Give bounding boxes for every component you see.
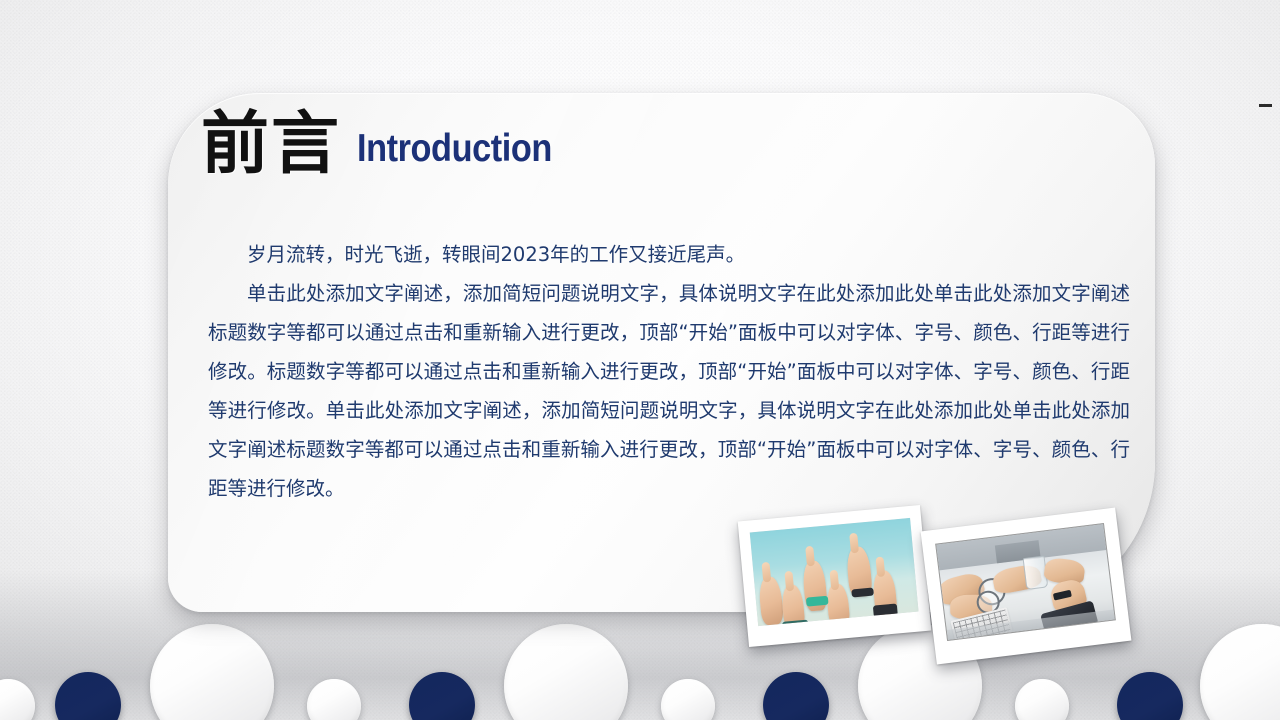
- decor-circle-white: [504, 624, 628, 720]
- thumbs-up-photo-image: [750, 518, 919, 626]
- decor-circle-white: [661, 679, 715, 720]
- business-meeting-artwork: [936, 524, 1114, 640]
- decor-circle-white: [1200, 624, 1280, 720]
- business-meeting-photo-image: [935, 523, 1116, 641]
- page-title: 前言 Introduction: [201, 110, 578, 178]
- thumbs-up-artwork: [750, 518, 919, 626]
- title-chinese: 前言: [201, 110, 341, 178]
- decor-circle-navy: [55, 672, 121, 720]
- decor-circle-white: [150, 624, 274, 720]
- decor-circle-white: [307, 679, 361, 720]
- thumbs-up-photo[interactable]: [738, 505, 932, 647]
- edge-tick-mark: [1259, 104, 1272, 107]
- body-paragraph-2: 单击此处添加文字阐述，添加简短问题说明文字，具体说明文字在此处添加此处单击此处添…: [208, 274, 1130, 508]
- decor-circle-white: [1015, 679, 1069, 720]
- body-copy: 岁月流转，时光飞逝，转眼间2023年的工作又接近尾声。 单击此处添加文字阐述，添…: [208, 235, 1130, 508]
- title-english: Introduction: [357, 129, 552, 168]
- decor-circle-navy: [1117, 672, 1183, 720]
- decor-circle-white: [0, 679, 35, 720]
- decor-circle-navy: [409, 672, 475, 720]
- presentation-slide: 前言 Introduction 岁月流转，时光飞逝，转眼间2023年的工作又接近…: [0, 0, 1280, 720]
- body-paragraph-1: 岁月流转，时光飞逝，转眼间2023年的工作又接近尾声。: [208, 235, 1130, 274]
- decor-circle-navy: [763, 672, 829, 720]
- business-meeting-photo[interactable]: [921, 508, 1132, 665]
